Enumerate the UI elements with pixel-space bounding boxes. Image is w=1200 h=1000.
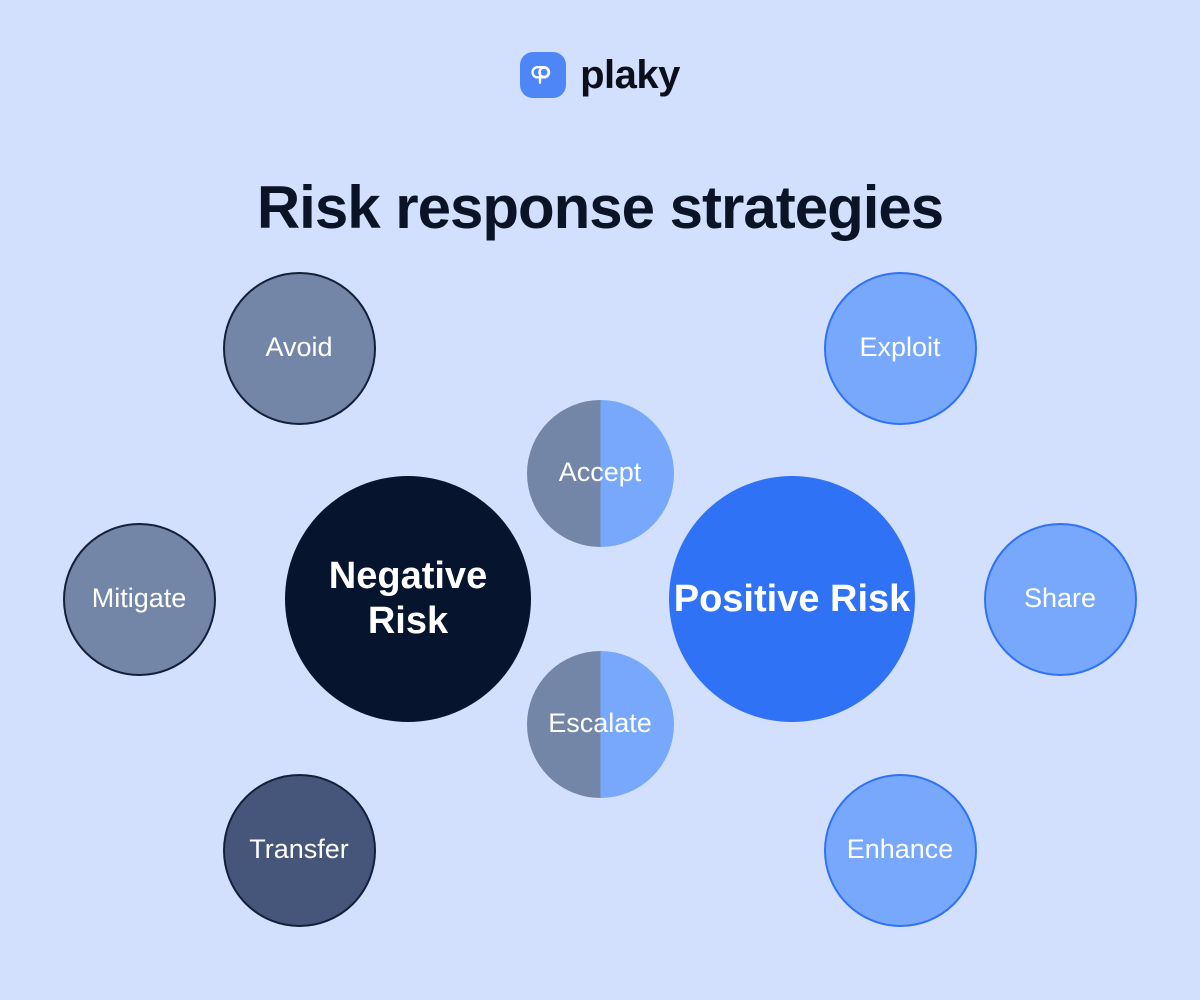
brand-lockup: plaky: [0, 52, 1200, 98]
strategy-bubble-transfer[interactable]: Transfer: [223, 774, 376, 927]
hub-bubble-positive-risk[interactable]: Positive Risk: [669, 476, 915, 722]
strategy-label: Transfer: [249, 834, 349, 866]
strategy-label: Mitigate: [92, 583, 187, 615]
strategy-bubble-exploit[interactable]: Exploit: [824, 272, 977, 425]
strategy-bubble-mitigate[interactable]: Mitigate: [63, 523, 216, 676]
strategy-label: Enhance: [847, 834, 954, 866]
hub-bubble-negative-risk[interactable]: Negative Risk: [285, 476, 531, 722]
page-title: Risk response strategies: [0, 175, 1200, 241]
hub-label: Positive Risk: [674, 577, 911, 622]
strategy-label: Exploit: [859, 332, 940, 364]
strategy-label: Share: [1024, 583, 1096, 615]
strategy-bubble-enhance[interactable]: Enhance: [824, 774, 977, 927]
strategy-bubble-share[interactable]: Share: [984, 523, 1137, 676]
plaky-logo-icon: [520, 52, 566, 98]
strategy-bubble-accept[interactable]: Accept: [527, 400, 674, 547]
hub-label: Negative Risk: [285, 554, 531, 644]
strategy-label: Accept: [559, 457, 642, 489]
strategy-label: Escalate: [548, 708, 652, 740]
strategy-bubble-avoid[interactable]: Avoid: [223, 272, 376, 425]
infographic-canvas: plaky Risk response strategies Accept Es…: [0, 0, 1200, 1000]
strategy-label: Avoid: [265, 332, 332, 364]
brand-name: plaky: [580, 55, 680, 95]
strategy-bubble-escalate[interactable]: Escalate: [527, 651, 674, 798]
